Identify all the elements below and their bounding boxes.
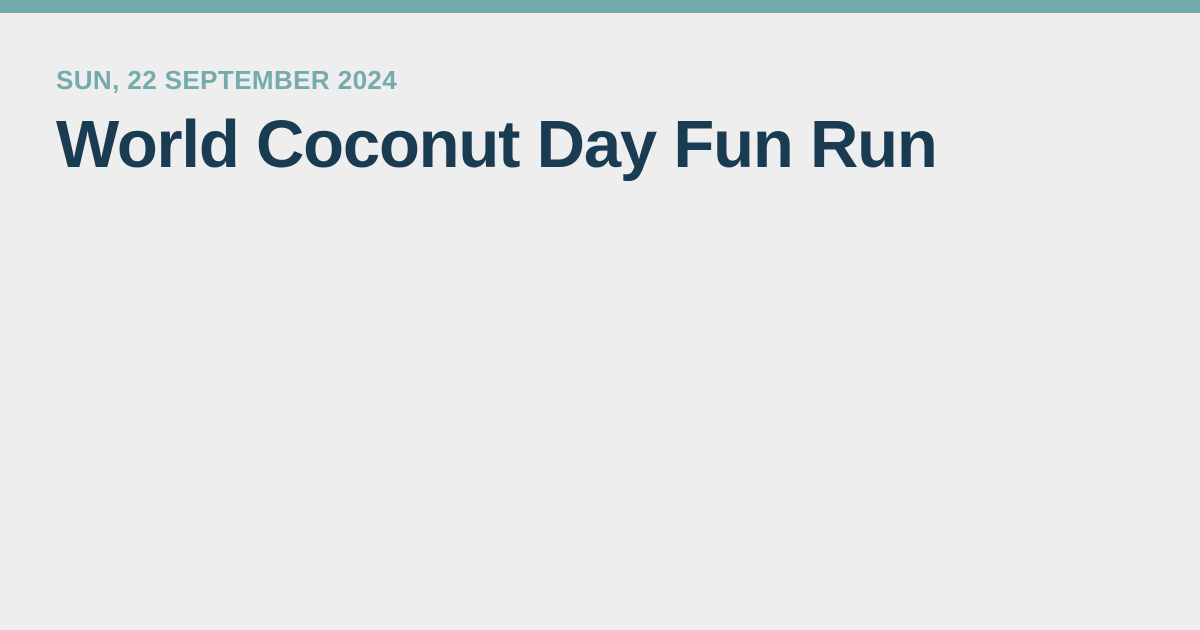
- event-date: SUN, 22 SEPTEMBER 2024: [56, 65, 1144, 95]
- top-accent-bar: [0, 0, 1200, 13]
- event-body-area: [0, 190, 1200, 630]
- event-title: World Coconut Day Fun Run: [56, 109, 1144, 181]
- event-card: SUN, 22 SEPTEMBER 2024 World Coconut Day…: [0, 0, 1200, 630]
- event-header: SUN, 22 SEPTEMBER 2024 World Coconut Day…: [0, 13, 1200, 181]
